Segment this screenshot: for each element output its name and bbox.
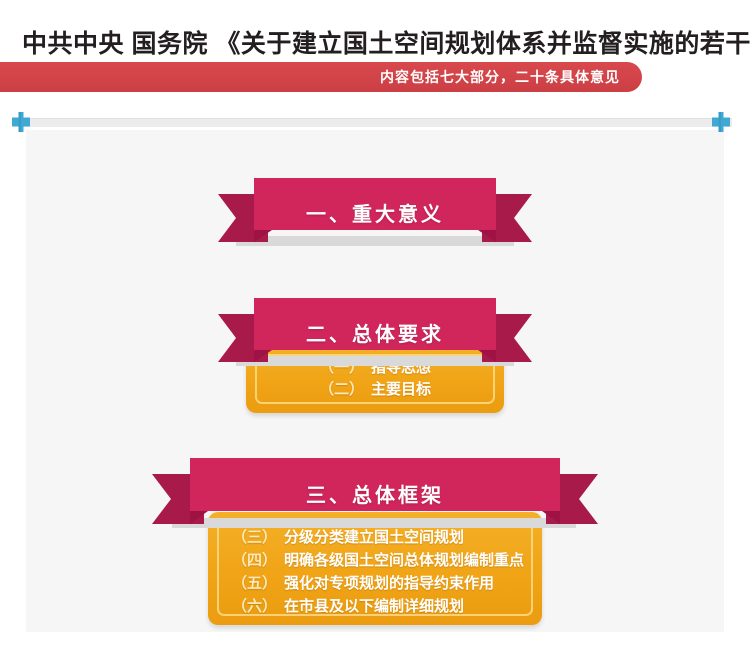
list-item-number: （六） — [232, 595, 277, 618]
section-block-1: 一、重大意义 — [214, 172, 536, 250]
section-block-2: 二、总体要求 — [214, 292, 536, 370]
divider — [0, 104, 750, 138]
list-item-number: （五） — [232, 572, 277, 595]
list-item[interactable]: （四） 明确各级国土空间总体规划编制重点 — [232, 549, 542, 572]
list-item-label: 明确各级国土空间总体规划编制重点 — [284, 549, 524, 572]
list-item-label: 在市县及以下编制详细规划 — [284, 595, 464, 618]
list-item-label: 强化对专项规划的指导约束作用 — [284, 572, 494, 595]
infographic-page: DIT PIS DR 中共中央 国务院 《关于建立国土空间规划体系并监督实施的若… — [0, 0, 750, 646]
cross-marker-icon-right — [712, 112, 730, 132]
subtitle-band: 内容包括七大部分，二十条具体意见 — [0, 62, 642, 92]
section-title-2: 二、总体要求 — [214, 318, 536, 347]
list-item[interactable]: （二） 主要目标 — [246, 379, 504, 401]
cross-marker-icon-left — [12, 112, 30, 132]
list-item[interactable]: （五） 强化对专项规划的指导约束作用 — [232, 572, 542, 595]
page-title: 中共中央 国务院 《关于建立国土空间规划体系并监督实施的若干意见》 — [22, 24, 750, 60]
section-title-3: 三、总体框架 — [148, 479, 602, 508]
list-item-number: （四） — [232, 549, 277, 572]
header: 中共中央 国务院 《关于建立国土空间规划体系并监督实施的若干意见》 内容包括七大… — [0, 0, 750, 104]
list-item-label: 主要目标 — [371, 379, 431, 401]
ribbon-3: 三、总体框架 — [148, 452, 602, 532]
section-title-1: 一、重大意义 — [214, 198, 536, 227]
ribbon-1: 一、重大意义 — [214, 172, 536, 250]
section-block-3: 三、总体框架 — [148, 452, 602, 532]
list-item-number: （二） — [319, 379, 364, 401]
divider-bar — [18, 118, 732, 127]
list-item[interactable]: （六） 在市县及以下编制详细规划 — [232, 595, 542, 618]
ribbon-2: 二、总体要求 — [214, 292, 536, 370]
page-subtitle: 内容包括七大部分，二十条具体意见 — [380, 62, 620, 92]
